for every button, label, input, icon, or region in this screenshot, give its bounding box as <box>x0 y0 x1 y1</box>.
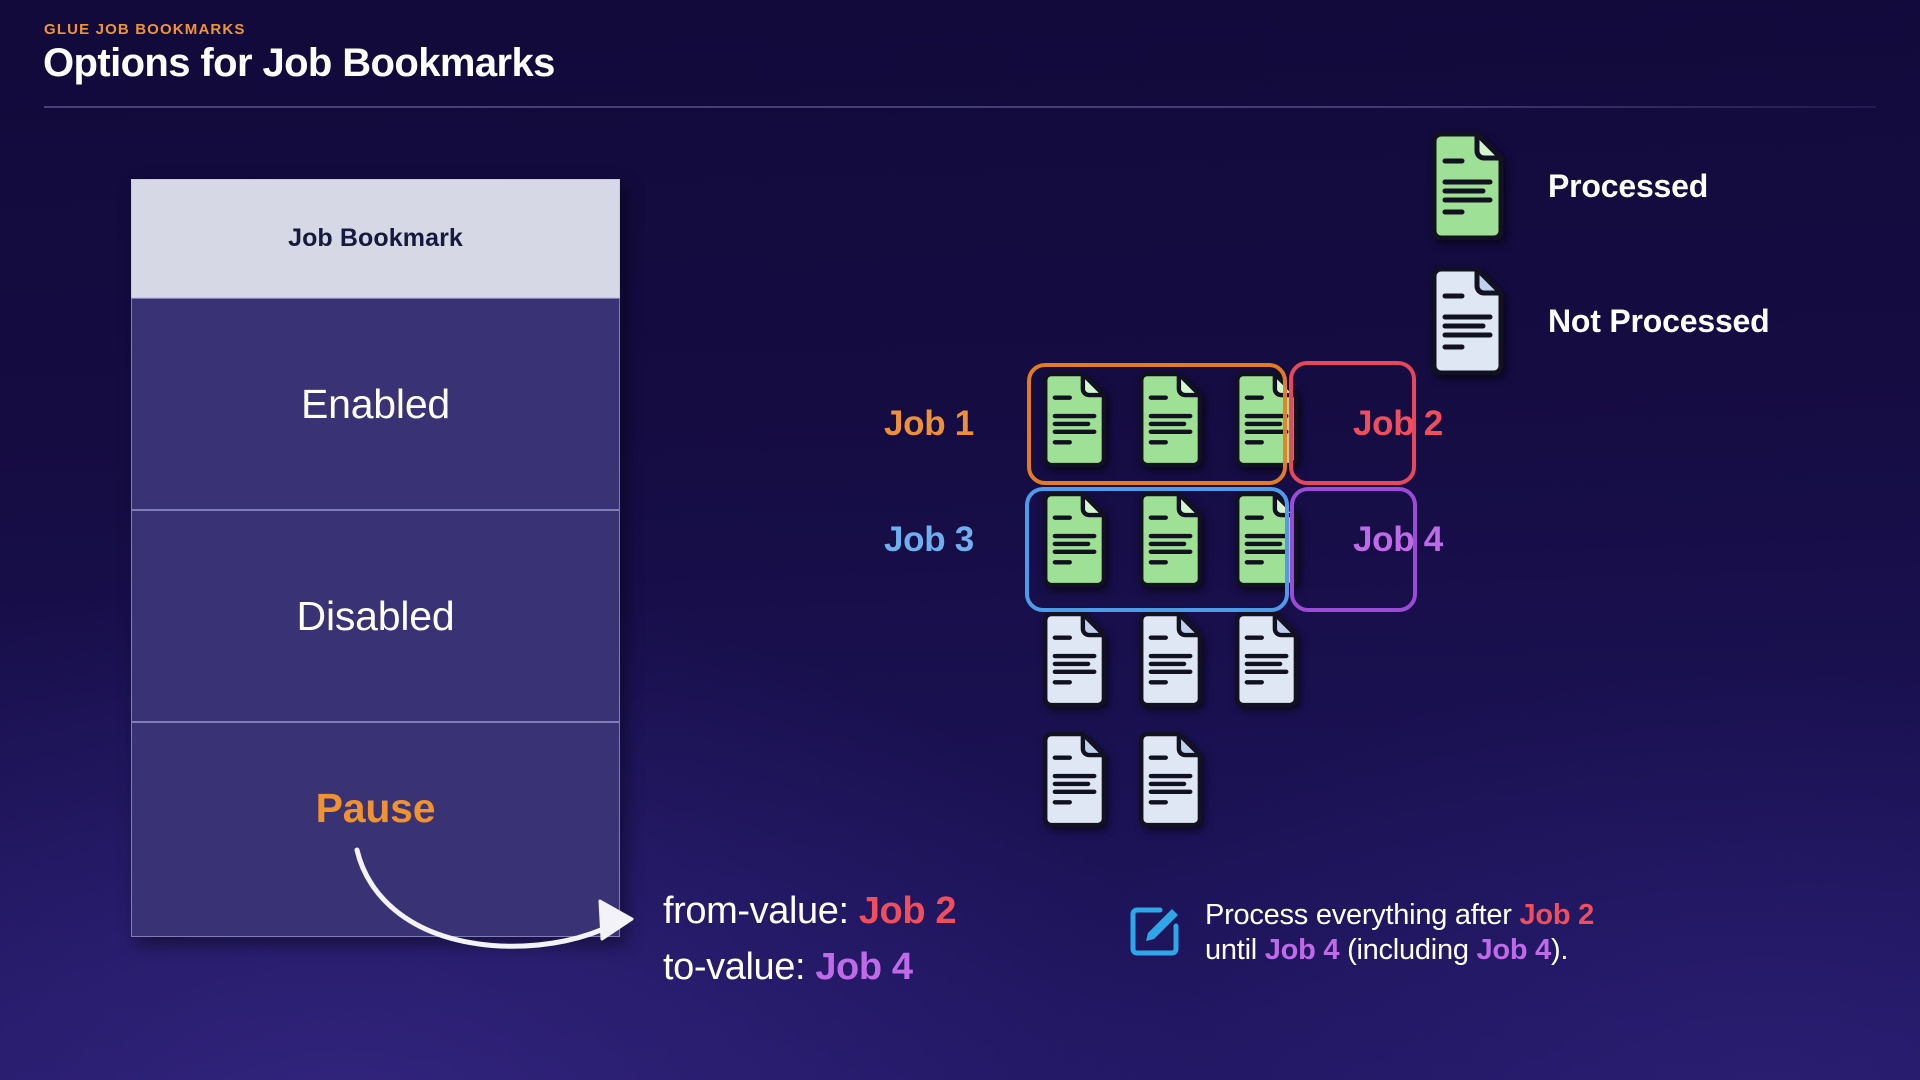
document-icon <box>1136 732 1206 827</box>
document-cell <box>1040 612 1110 707</box>
document-icon <box>1136 612 1206 707</box>
to-value-line: to-value: Job 4 <box>663 939 956 995</box>
document-icon <box>1428 267 1508 375</box>
job-bookmark-options-table: Job Bookmark Enabled Disabled Pause <box>131 179 620 937</box>
document-cell <box>1136 732 1206 827</box>
slide-canvas: GLUE JOB BOOKMARKS Options for Job Bookm… <box>0 0 1920 1080</box>
note-part-1: Process everything after <box>1205 899 1520 931</box>
table-header-row: Job Bookmark <box>131 179 620 298</box>
document-icon <box>1428 132 1508 240</box>
legend-label: Not Processed <box>1548 303 1769 340</box>
job-group-box-job-1 <box>1027 363 1287 485</box>
job-group-box-job-3 <box>1025 487 1289 612</box>
to-value-label: to-value: <box>663 946 815 988</box>
note-job-c: Job 4 <box>1477 934 1552 966</box>
table-row-label: Enabled <box>301 381 450 428</box>
table-header-label: Job Bookmark <box>288 224 463 253</box>
from-value-line: from-value: Job 2 <box>663 883 956 939</box>
document-cell <box>1136 612 1206 707</box>
job-label-job-3: Job 3 <box>884 520 974 560</box>
legend-label: Processed <box>1548 168 1708 205</box>
bookmark-values: from-value: Job 2 to-value: Job 4 <box>663 883 956 995</box>
note-part-4: ). <box>1551 934 1568 966</box>
table-row-label: Pause <box>316 785 436 832</box>
document-cell <box>1232 612 1302 707</box>
slide-kicker: GLUE JOB BOOKMARKS <box>44 21 246 38</box>
curved-arrow-icon <box>350 845 640 975</box>
from-value-value: Job 2 <box>859 890 956 932</box>
note-text: Process everything after Job 2 until Job… <box>1205 898 1594 968</box>
note-job-b: Job 4 <box>1265 934 1340 966</box>
job-label-job-2: Job 2 <box>1353 404 1443 444</box>
note-job-a: Job 2 <box>1520 899 1595 931</box>
legend-item-not-processed: Not Processed <box>1428 267 1769 375</box>
note-part-3: (including <box>1339 934 1476 966</box>
document-icon <box>1232 612 1302 707</box>
legend: Processed Not Processed <box>1428 132 1769 375</box>
explanation-note: Process everything after Job 2 until Job… <box>1129 898 1594 968</box>
document-icon <box>1040 732 1110 827</box>
document-icon <box>1040 612 1110 707</box>
edit-note-icon <box>1129 903 1183 957</box>
table-row-label: Disabled <box>297 593 455 640</box>
job-label-job-1: Job 1 <box>884 404 974 444</box>
to-value-value: Job 4 <box>815 946 912 988</box>
job-label-job-4: Job 4 <box>1353 520 1443 560</box>
header-divider <box>44 106 1876 108</box>
table-row-disabled[interactable]: Disabled <box>131 510 620 722</box>
page-title: Options for Job Bookmarks <box>43 41 555 86</box>
table-row-enabled[interactable]: Enabled <box>131 298 620 510</box>
legend-item-processed: Processed <box>1428 132 1769 240</box>
note-part-2: until <box>1205 934 1265 966</box>
document-cell <box>1040 732 1110 827</box>
from-value-label: from-value: <box>663 890 859 932</box>
